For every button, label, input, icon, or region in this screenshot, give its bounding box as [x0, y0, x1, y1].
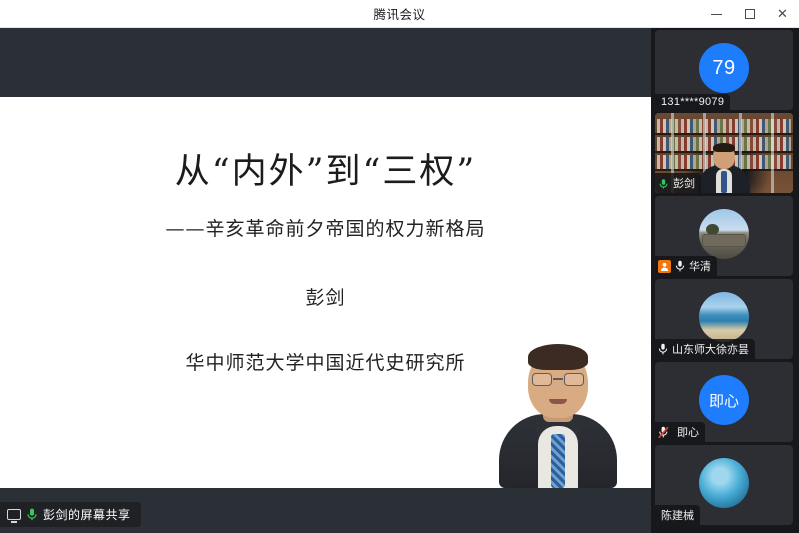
- screen-share-icon: [7, 509, 21, 520]
- participant-name-bar: 山东师大徐亦昙: [655, 339, 755, 359]
- title-bar: 腾讯会议 ✕: [0, 0, 799, 28]
- participant-tile[interactable]: 山东师大徐亦昙: [655, 279, 793, 359]
- screen-share-label: 彭剑的屏幕共享: [43, 506, 131, 523]
- slide-title: 从“内外”到“三权”: [175, 143, 477, 194]
- shared-slide: 从“内外”到“三权” ——辛亥革命前夕帝国的权力新格局 彭剑 华中师范大学中国近…: [0, 97, 651, 488]
- tencent-meeting-window: 腾讯会议 ✕ 从“内外”到“三权” ——辛亥革命前夕帝国的权力新格局 彭剑 华中…: [0, 0, 799, 533]
- participant-name-text: 即心: [677, 424, 699, 440]
- participant-tile[interactable]: 彭剑: [655, 113, 793, 193]
- avatar: [699, 209, 749, 259]
- mic-on-icon: [658, 343, 668, 356]
- close-button[interactable]: ✕: [766, 0, 799, 28]
- screen-share-badge: 彭剑的屏幕共享: [0, 502, 141, 527]
- participant-name-bar: 即心: [655, 422, 705, 442]
- participant-tile[interactable]: 华清: [655, 196, 793, 276]
- participant-tile[interactable]: 即心 即心: [655, 362, 793, 442]
- avatar: [699, 292, 749, 342]
- avatar: 即心: [699, 375, 749, 425]
- window-controls: ✕: [700, 0, 799, 28]
- participant-name: 131****9079: [655, 94, 730, 110]
- mic-muted-icon: [658, 426, 669, 439]
- participant-name: 山东师大徐亦昙: [672, 341, 749, 357]
- slide-subtitle: ——辛亥革命前夕帝国的权力新格局: [165, 214, 485, 241]
- window-title: 腾讯会议: [0, 4, 799, 23]
- meeting-body: 从“内外”到“三权” ——辛亥革命前夕帝国的权力新格局 彭剑 华中师范大学中国近…: [0, 28, 799, 533]
- minimize-button[interactable]: [700, 0, 733, 28]
- participant-tile[interactable]: 79 131****9079: [655, 30, 793, 110]
- slide-affiliation: 华中师范大学中国近代史研究所: [185, 348, 465, 375]
- participant-tile[interactable]: 陈建械: [655, 445, 793, 525]
- participant-name-bar: 华清: [655, 256, 717, 276]
- avatar: 79: [699, 43, 749, 93]
- minimize-icon: [711, 14, 722, 15]
- mic-on-icon: [675, 260, 685, 273]
- close-icon: ✕: [777, 8, 788, 21]
- maximize-icon: [745, 9, 755, 19]
- maximize-button[interactable]: [733, 0, 766, 28]
- avatar-initials: 即心: [709, 390, 739, 411]
- host-badge-icon: [658, 260, 671, 273]
- avatar: [699, 458, 749, 508]
- slide-author: 彭剑: [305, 283, 345, 310]
- participant-name: 陈建械: [655, 505, 700, 525]
- participant-name-bar: 彭剑: [655, 173, 701, 193]
- participant-name: 彭剑: [673, 175, 695, 191]
- participant-sidebar[interactable]: 79 131****9079: [651, 28, 799, 533]
- participant-name: 华清: [689, 258, 711, 274]
- mic-active-icon: [658, 177, 669, 190]
- mic-active-icon: [27, 508, 37, 521]
- avatar-number: 79: [712, 57, 735, 80]
- shared-screen-stage[interactable]: 从“内外”到“三权” ——辛亥革命前夕帝国的权力新格局 彭剑 华中师范大学中国近…: [0, 28, 651, 533]
